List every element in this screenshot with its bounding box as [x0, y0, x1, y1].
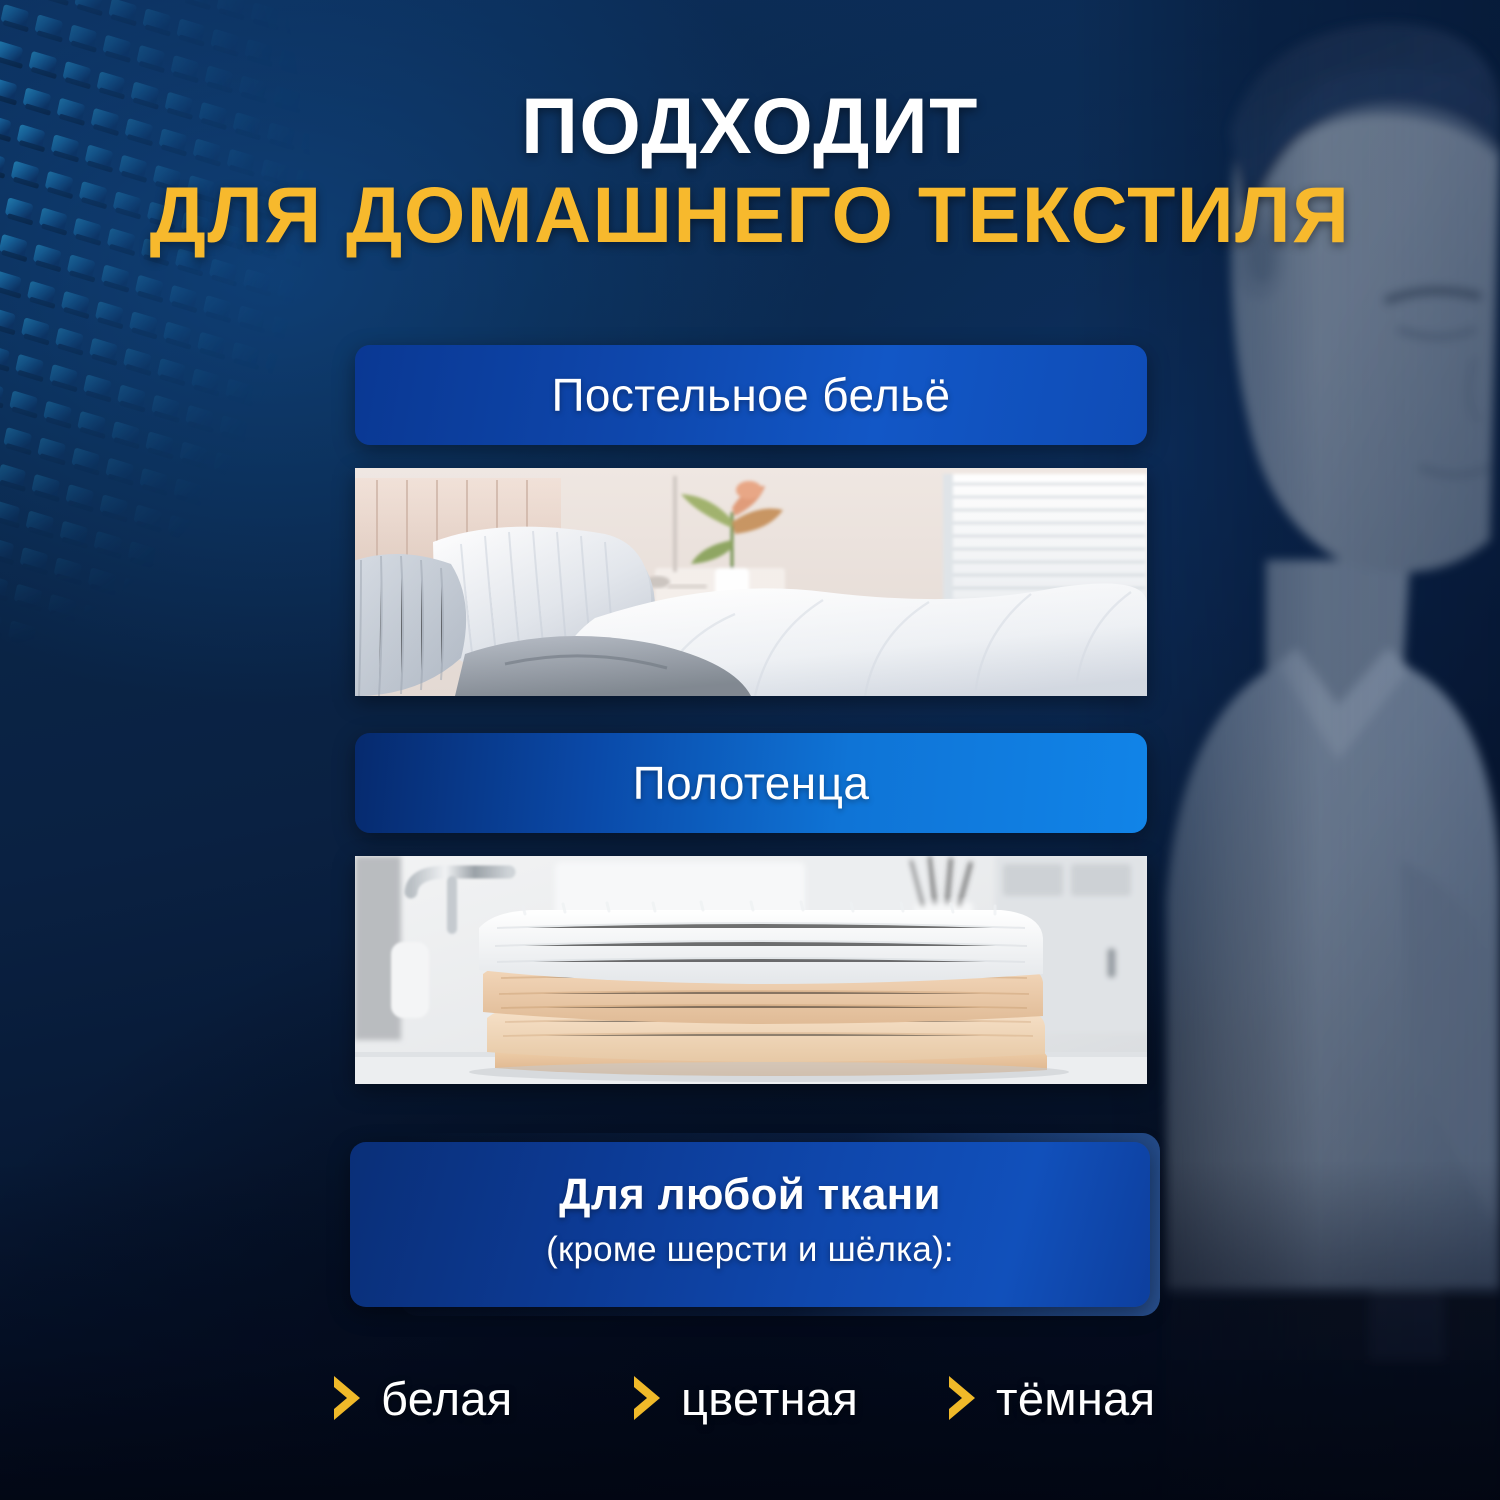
- section-label-bedding-text: Постельное бельё: [551, 368, 950, 422]
- bathroom-towels-image-icon: [355, 856, 1147, 1084]
- fabric-card: Для любой ткани (кроме шерсти и шёлка):: [350, 1142, 1150, 1307]
- fabric-color-label-colored: цветная: [681, 1371, 858, 1426]
- page-title: ПОДХОДИТ ДЛЯ ДОМАШНЕГО ТЕКСТИЛЯ: [0, 88, 1500, 253]
- headline-line-2: ДЛЯ ДОМАШНЕГО ТЕКСТИЛЯ: [0, 177, 1500, 253]
- fabric-color-label-white: белая: [381, 1371, 512, 1426]
- section-label-towels[interactable]: Полотенца: [355, 733, 1147, 833]
- fabric-color-item-colored[interactable]: цветная: [630, 1371, 945, 1426]
- bedding-photo: [355, 468, 1147, 696]
- fabric-color-item-dark[interactable]: тёмная: [945, 1371, 1190, 1426]
- headline-line-1: ПОДХОДИТ: [0, 88, 1500, 164]
- section-label-towels-text: Полотенца: [633, 756, 870, 810]
- chevron-right-icon: [945, 1373, 979, 1423]
- chevron-right-icon: [630, 1373, 664, 1423]
- fabric-card-subtitle: (кроме шерсти и шёлка):: [350, 1230, 1150, 1270]
- bedroom-image-icon: [355, 468, 1147, 696]
- fabric-color-label-dark: тёмная: [996, 1371, 1155, 1426]
- fabric-card-title: Для любой ткани: [350, 1170, 1150, 1220]
- fabric-color-item-white[interactable]: белая: [330, 1371, 630, 1426]
- section-label-bedding[interactable]: Постельное бельё: [355, 345, 1147, 445]
- fabric-colors-list: белая цветная тёмная: [330, 1358, 1190, 1438]
- chevron-right-icon: [330, 1373, 364, 1423]
- poster-canvas: ПОДХОДИТ ДЛЯ ДОМАШНЕГО ТЕКСТИЛЯ Постельн…: [0, 0, 1500, 1500]
- towels-photo: [355, 856, 1147, 1084]
